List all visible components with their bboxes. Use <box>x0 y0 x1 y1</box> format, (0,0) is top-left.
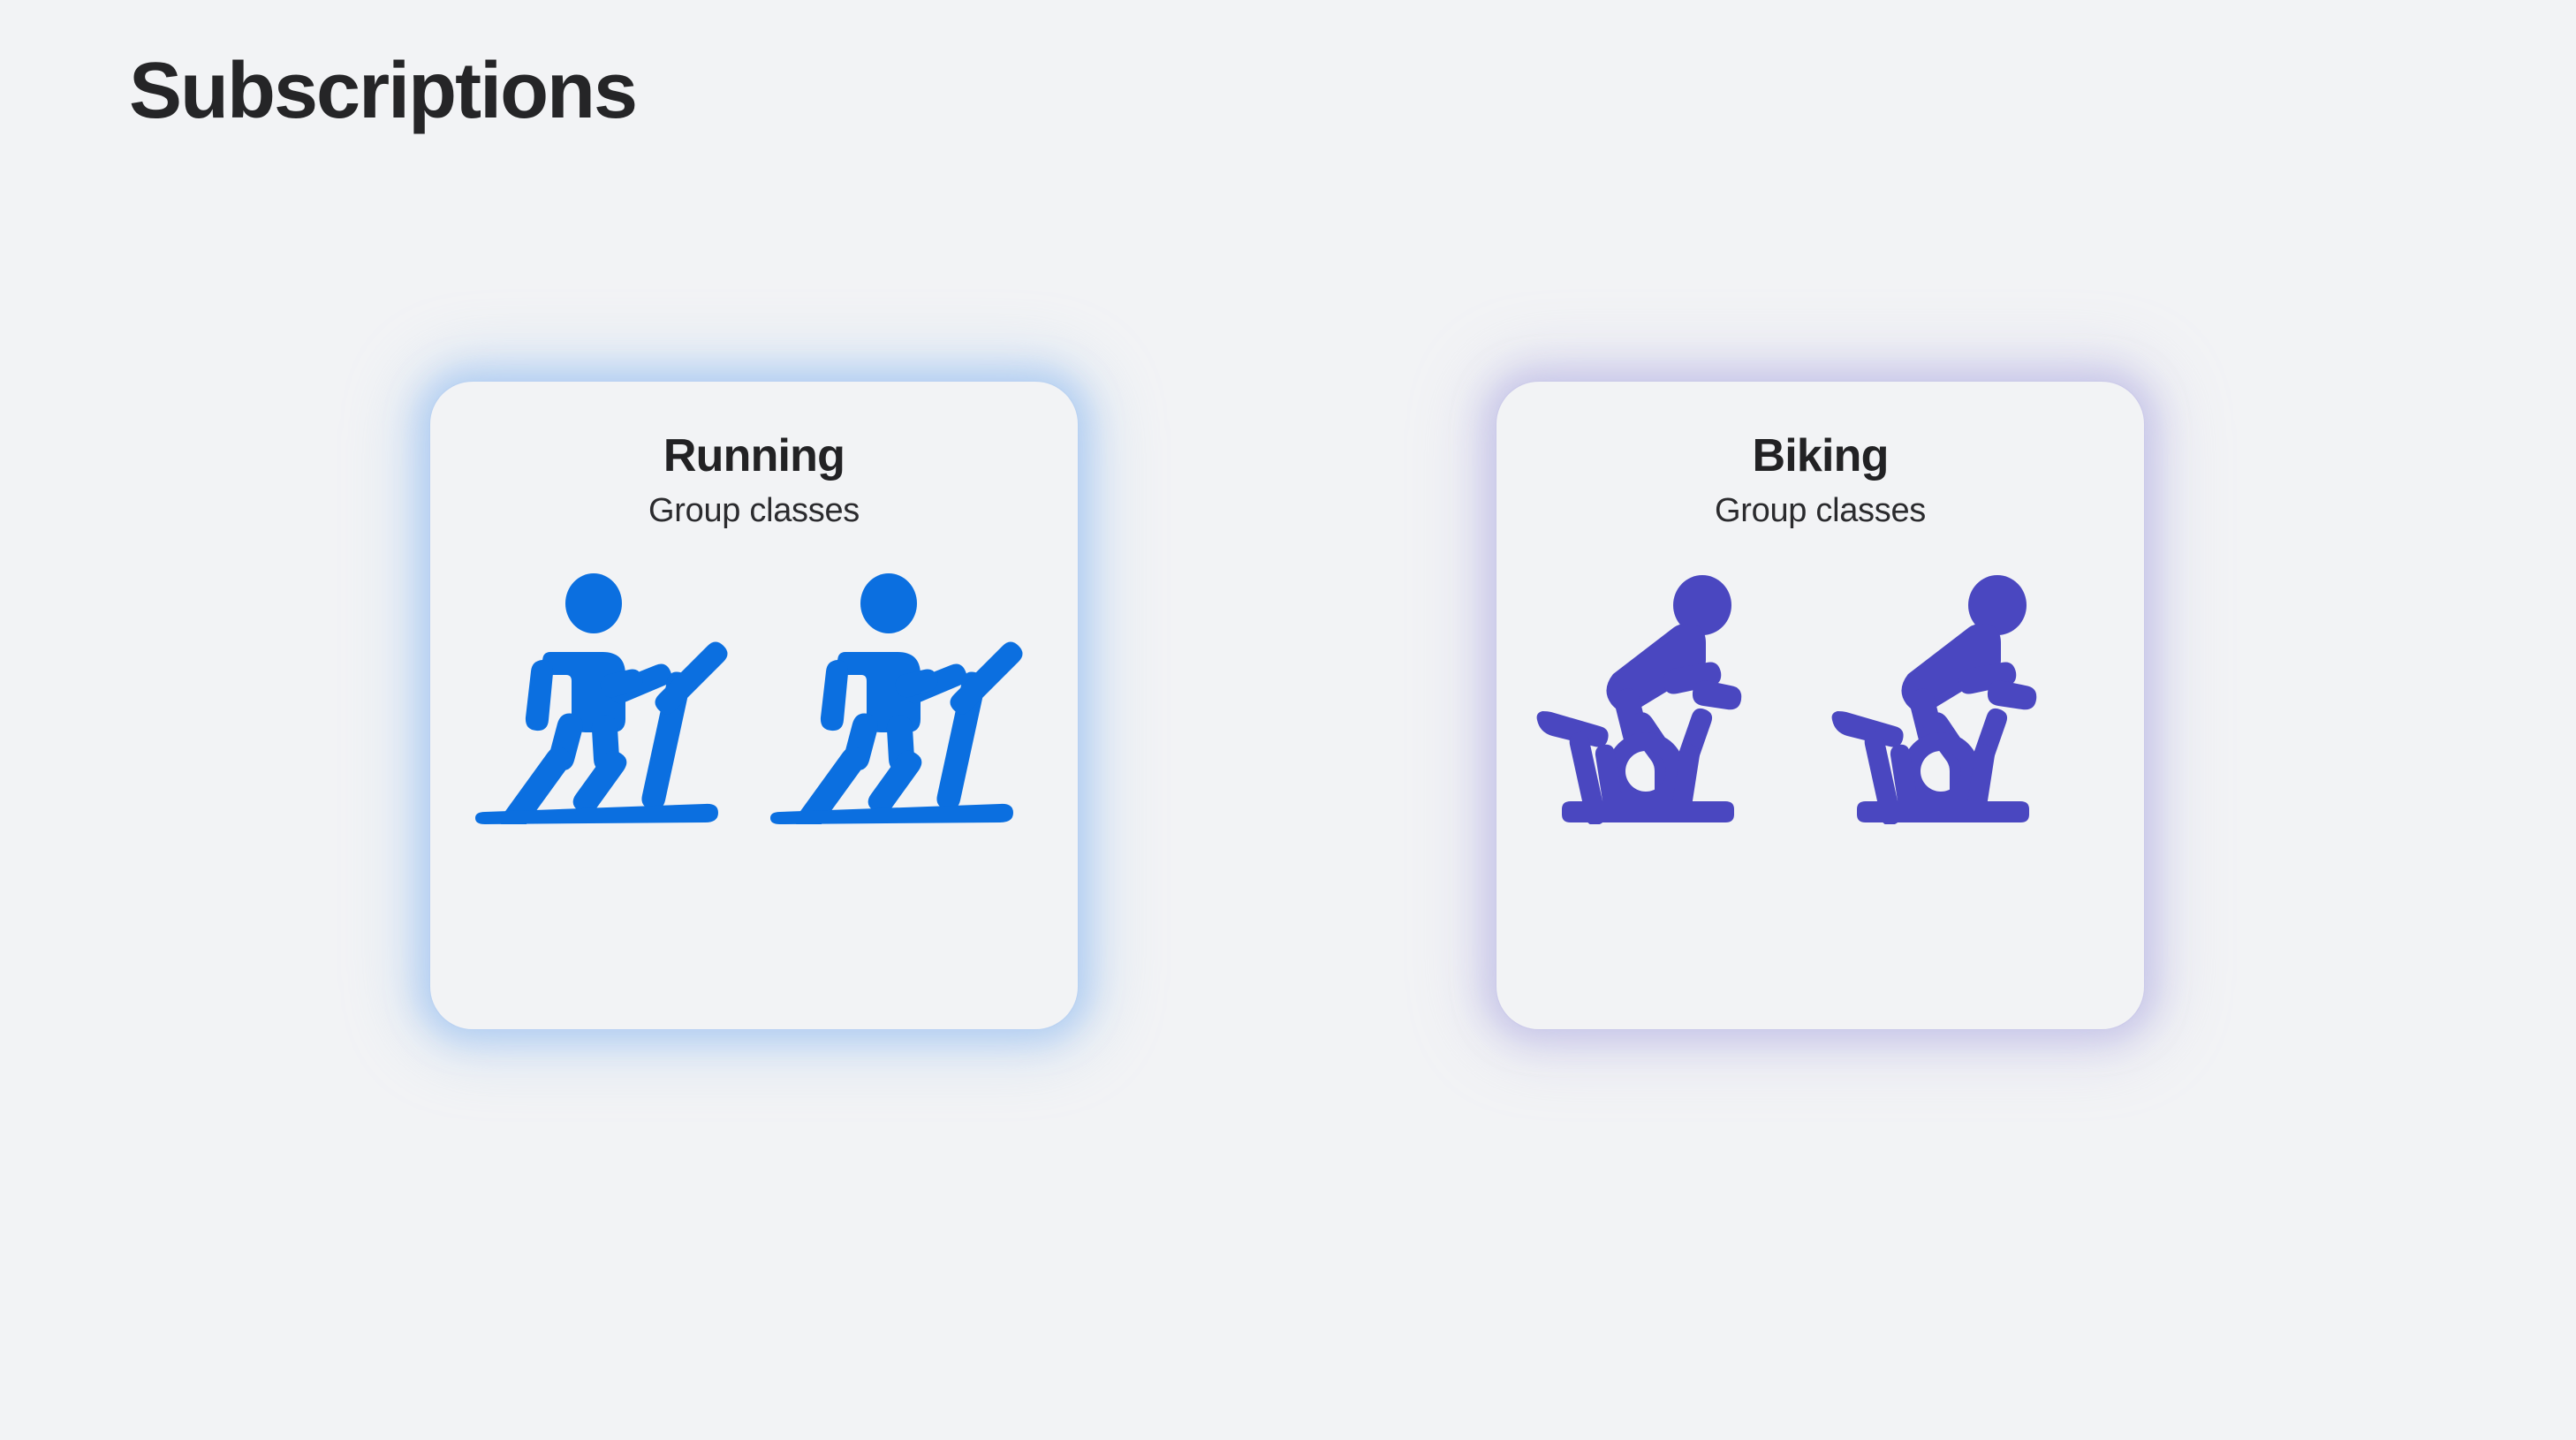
spin-bike-icon <box>1827 568 2110 824</box>
treadmill-runner-icon <box>761 568 1043 824</box>
page-title: Subscriptions <box>129 46 636 138</box>
icon-row-biking <box>1496 568 2144 824</box>
spin-bike-icon <box>1532 568 1815 824</box>
subscription-card-running[interactable]: Running Group classes <box>430 382 1078 1029</box>
subscription-card-row: Running Group classes <box>0 382 2576 1035</box>
treadmill-runner-icon <box>466 568 748 824</box>
card-title-running: Running <box>663 431 845 481</box>
icon-row-running <box>430 568 1078 824</box>
subscription-card-biking[interactable]: Biking Group classes <box>1496 382 2144 1029</box>
card-subtitle-biking: Group classes <box>1715 492 1926 531</box>
card-title-biking: Biking <box>1752 431 1888 481</box>
card-subtitle-running: Group classes <box>648 492 860 531</box>
